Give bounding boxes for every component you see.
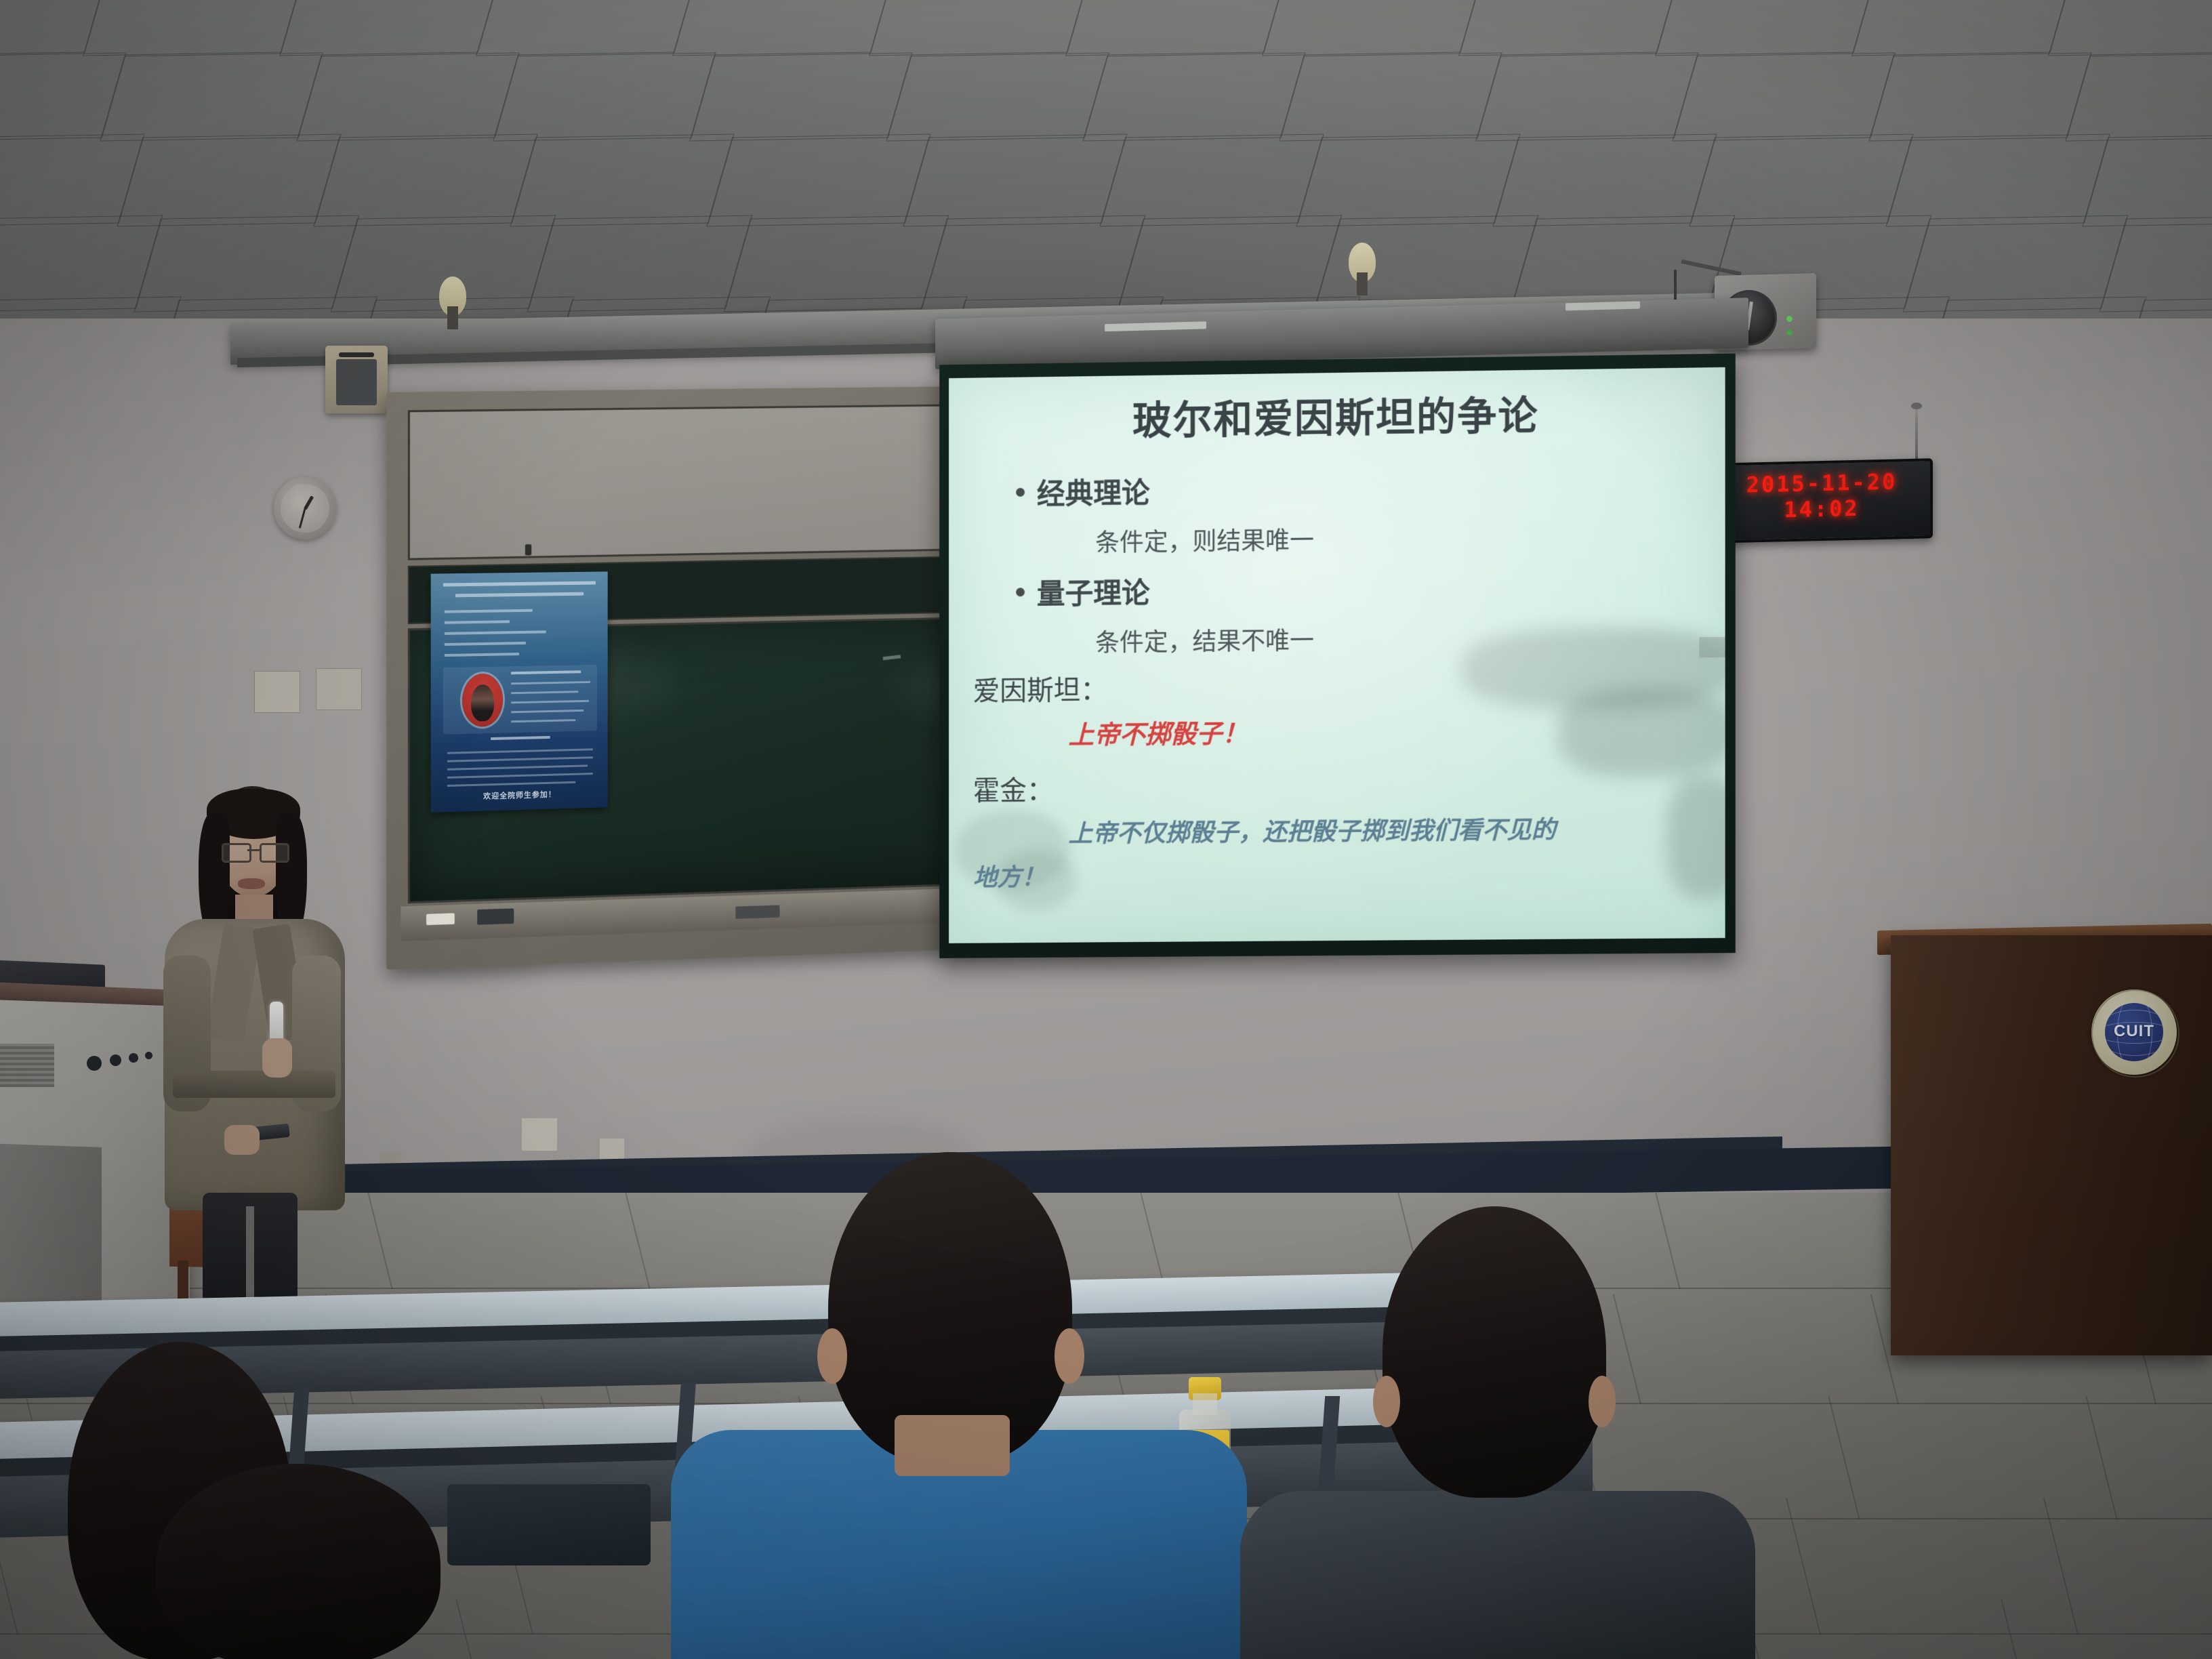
emblem-ring xyxy=(2091,989,2179,1078)
glasses-icon xyxy=(222,843,285,859)
lectern-button[interactable] xyxy=(87,1056,102,1071)
presenter xyxy=(159,786,349,1322)
wall-outlet[interactable] xyxy=(522,1118,557,1151)
led-clock-sign: 2015-11-20 14:02 xyxy=(1711,458,1933,543)
coat-belt xyxy=(173,1071,335,1098)
wall-clock-face xyxy=(281,484,329,533)
bullet-dot-icon xyxy=(1016,488,1025,497)
slide-speaker-hawking: 霍金： xyxy=(973,769,1054,808)
presenter-mouth xyxy=(238,878,265,889)
slide-quote-hawking-line1: 上帝不仅掷骰子，还把骰子掷到我们看不见的 xyxy=(1069,810,1556,849)
floor-tile xyxy=(367,1193,650,1289)
student-center-neck xyxy=(895,1415,1010,1476)
lectern-vent xyxy=(0,1044,54,1087)
bullet-label: 量子理论 xyxy=(1037,570,1150,613)
floor-tile xyxy=(2001,1599,2212,1659)
ceiling-knob-stem xyxy=(1357,272,1368,295)
student-right-shoulders xyxy=(1240,1491,1755,1659)
lectern-body xyxy=(0,1143,102,1317)
projected-slide: 玻尔和爱因斯坦的争论 经典理论 条件定，则结果唯一 量子理论 条件定，结果不唯一… xyxy=(949,367,1725,943)
projector-status-led xyxy=(1786,329,1793,335)
slide-subtext-1: 条件定，则结果唯一 xyxy=(1095,520,1314,558)
blackboard-eraser[interactable] xyxy=(477,908,514,924)
bullet-label: 经典理论 xyxy=(1037,470,1150,513)
lectern-button[interactable] xyxy=(129,1053,138,1063)
slide-quote-einstein: 上帝不掷骰子！ xyxy=(1069,712,1248,751)
ceiling-knob-stem xyxy=(447,306,458,329)
led-time-text: 14:02 xyxy=(1713,493,1930,524)
clock-minute-hand xyxy=(299,508,306,529)
slide-subtext-2: 条件定，结果不唯一 xyxy=(1095,621,1314,658)
lectern-button[interactable] xyxy=(110,1054,121,1066)
floor-tile xyxy=(1743,1599,2039,1659)
chalk[interactable] xyxy=(426,913,455,925)
student-bottom-left-head xyxy=(156,1464,441,1659)
screen-glare xyxy=(949,367,1725,943)
slide-quote-hawking-line2: 地方！ xyxy=(973,857,1046,893)
speaker-grille xyxy=(336,359,377,405)
projector-power-led xyxy=(1786,316,1793,322)
wall-outlet[interactable] xyxy=(254,671,300,713)
floor-tile xyxy=(1613,1294,1899,1404)
wooden-podium[interactable] xyxy=(1891,935,2212,1355)
leg-gap xyxy=(246,1206,254,1308)
led-sign-antenna-tip xyxy=(1911,403,1922,409)
student-right-head xyxy=(1382,1206,1606,1498)
slide-title: 玻尔和爱因斯坦的争论 xyxy=(949,381,1725,449)
chair[interactable] xyxy=(447,1484,651,1565)
chalk-mark xyxy=(883,655,901,660)
projection-screen-frame: 玻尔和爱因斯坦的争论 经典理论 条件定，则结果唯一 量子理论 条件定，结果不唯一… xyxy=(939,354,1736,958)
wall-outlet[interactable] xyxy=(316,668,362,710)
lectern-button[interactable] xyxy=(145,1052,152,1059)
slide-bullet-2: 量子理论 xyxy=(1016,570,1150,613)
presenter-hand-holding-mic xyxy=(262,1038,292,1078)
blackboard-eraser[interactable] xyxy=(735,905,779,919)
bullet-dot-icon xyxy=(1016,588,1025,596)
presenter-hand-holding-device xyxy=(224,1125,260,1155)
speaker-slot xyxy=(339,352,374,357)
clock-hour-hand xyxy=(304,495,314,510)
lecture-hall-photo: 2015-11-20 14:02 xyxy=(0,0,2212,1659)
slide-speaker-einstein: 爱因斯坦： xyxy=(973,668,1107,708)
poster-footer-text: 欢迎全院师生参加！ xyxy=(431,787,608,802)
lecture-announcement-poster: 欢迎全院师生参加！ xyxy=(431,571,608,813)
slide-bullet-1: 经典理论 xyxy=(1016,470,1150,513)
